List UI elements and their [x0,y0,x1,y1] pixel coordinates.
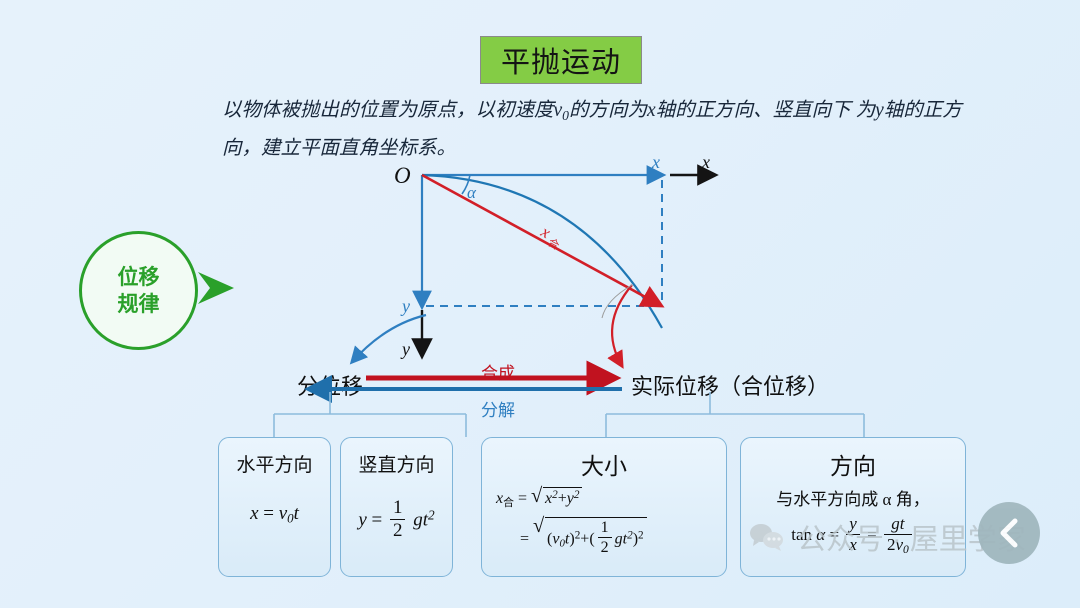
page-title: 平抛运动 [501,39,621,81]
y-component-label: y [400,296,410,316]
one-half-fraction: 1 2 [390,497,406,543]
badge-arrow-icon [196,268,238,308]
box-vertical-title: 竖直方向 [341,450,452,477]
intro-text-3: 轴的正方向、竖直向下 [656,100,851,121]
intro-y-symbol: y [875,100,884,121]
box-magnitude-title: 大小 [482,447,726,481]
origin-label: O [394,163,411,188]
box-horizontal-formula: x = v0t [219,503,330,527]
badge-line-1: 位移 [118,264,160,291]
chevron-left-icon [996,518,1022,548]
intro-text-2: 的方向为 [569,100,647,121]
box-magnitude: 大小 x合 = x2+y2 = (v0t)2+( 1 2 gt2)2 [481,437,727,577]
intro-text-4: 为 [856,100,876,121]
sqrt-xy: x2+y2 [531,487,582,508]
intro-text-1: 以物体被抛出的位置为原点，以初速度 [222,100,554,121]
projectile-coordinate-diagram: O α x x y y x 合 [330,150,760,380]
box-magnitude-formula: x合 = x2+y2 = (v0t)2+( 1 2 gt2)2 [482,487,726,558]
intro-v-subscript: 0 [562,108,569,123]
wechat-bubble-icon [748,521,788,553]
x-component-label: x [651,152,660,172]
x-axis-label: x [701,152,710,172]
box-direction-title: 方向 [741,447,965,481]
tree-connectors [200,392,1000,442]
box-direction-text: 与水平方向成 α 角， [741,485,965,510]
slide-canvas: 平抛运动 以物体被抛出的位置为原点，以初速度v0的方向为x轴的正方向、竖直向下 … [0,0,1080,608]
box-horizontal-direction: 水平方向 x = v0t [218,437,331,577]
box-vertical-direction: 竖直方向 y = 1 2 gt2 [340,437,453,577]
sqrt-expanded: (v0t)2+( 1 2 gt2)2 [533,517,647,558]
resultant-vector-label: x 合 [535,221,566,252]
box-vertical-formula: y = 1 2 gt2 [341,497,452,543]
section-badge-displacement-law: 位移 规律 [79,231,198,350]
slide-title-box: 平抛运动 [480,36,642,84]
back-button[interactable] [978,502,1040,564]
compose-label: 合成 [481,359,515,384]
angle-label: α [467,183,477,202]
intro-x-symbol: x [647,100,656,121]
box-horizontal-title: 水平方向 [219,450,330,477]
badge-line-2: 规律 [118,291,160,318]
intro-v-symbol: v [554,100,563,121]
